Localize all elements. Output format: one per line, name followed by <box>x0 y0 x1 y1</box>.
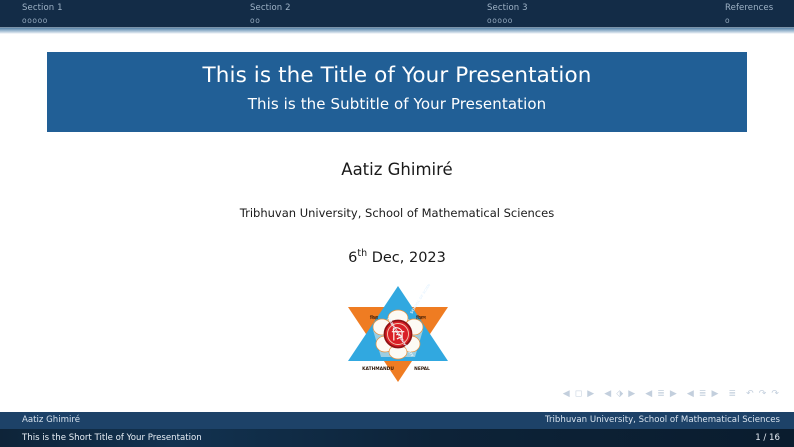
tribhuvan-university-logo: त्रि TRIBHUVAN UNIVERSITY SCHOOL OF SCIE… <box>344 284 452 384</box>
title-block: This is the Title of Your Presentation T… <box>47 52 747 132</box>
logo-city-text: KATHMANDU <box>362 366 394 372</box>
date-day: 6 <box>348 250 357 266</box>
nav-section-1-frame-dots[interactable]: ooooo <box>22 15 63 26</box>
nav-section-references[interactable]: References o <box>725 3 773 26</box>
nav-section-1-label: Section 1 <box>22 3 63 14</box>
nav-section-group[interactable]: ◀ ≣ ▶ <box>687 389 720 399</box>
svg-text:विज्ञान: विज्ञान <box>415 315 426 320</box>
title-page-metadata: Aatiz Ghimiré Tribhuvan University, Scho… <box>0 158 794 268</box>
presentation-date: 6th Dec, 2023 <box>0 248 794 268</box>
date-month-year: Dec, 2023 <box>372 250 446 266</box>
nav-section-1[interactable]: Section 1 ooooo <box>22 3 63 26</box>
footer-author: Aatiz Ghimiré <box>22 415 80 425</box>
nav-section-3-label: Section 3 <box>487 3 528 14</box>
nav-section-2[interactable]: Section 2 oo <box>250 3 291 26</box>
nav-section-2-frame-dots[interactable]: oo <box>250 15 291 26</box>
page-subtitle: This is the Subtitle of Your Presentatio… <box>47 91 747 117</box>
footer-institute: Tribhuvan University, School of Mathemat… <box>545 415 780 425</box>
section-navigation-bar: Section 1 ooooo Section 2 oo Section 3 o… <box>0 0 794 27</box>
nav-section-3[interactable]: Section 3 ooooo <box>487 3 528 26</box>
date-ordinal-suffix: th <box>357 248 367 259</box>
svg-text:शिक्षा: शिक्षा <box>369 315 379 320</box>
nav-slide-group[interactable]: ◀ ◻ ▶ <box>563 389 596 399</box>
nav-section-references-frame-dots[interactable]: o <box>725 15 773 26</box>
author-name: Aatiz Ghimiré <box>0 158 794 182</box>
footer-page-number: 1 / 16 <box>755 433 780 443</box>
footer-short-title: This is the Short Title of Your Presenta… <box>22 433 202 443</box>
page-title: This is the Title of Your Presentation <box>47 61 747 91</box>
header-gradient-divider <box>0 27 794 34</box>
presentation-slide: Section 1 ooooo Section 2 oo Section 3 o… <box>0 0 794 447</box>
institute-name: Tribhuvan University, School of Mathemat… <box>0 204 794 222</box>
nav-section-references-label: References <box>725 3 773 14</box>
nav-frame-group[interactable]: ◀ ⬗ ▶ <box>604 389 636 399</box>
nav-section-3-frame-dots[interactable]: ooooo <box>487 15 528 26</box>
nav-presentation-group[interactable]: ≣ <box>728 389 737 399</box>
nav-subsection-group[interactable]: ◀ ≣ ▶ <box>645 389 678 399</box>
nav-section-2-label: Section 2 <box>250 3 291 14</box>
footer-lower-bar: This is the Short Title of Your Presenta… <box>0 429 794 447</box>
footer-upper-bar: Aatiz Ghimiré Tribhuvan University, Scho… <box>0 412 794 429</box>
logo-country-text: NEPAL <box>414 366 430 372</box>
beamer-navigation-symbols[interactable]: ◀ ◻ ▶◀ ⬗ ▶◀ ≣ ▶◀ ≣ ▶≣↶ ↷ ↷ <box>0 389 780 399</box>
nav-back-search-group[interactable]: ↶ ↷ ↷ <box>746 389 780 399</box>
